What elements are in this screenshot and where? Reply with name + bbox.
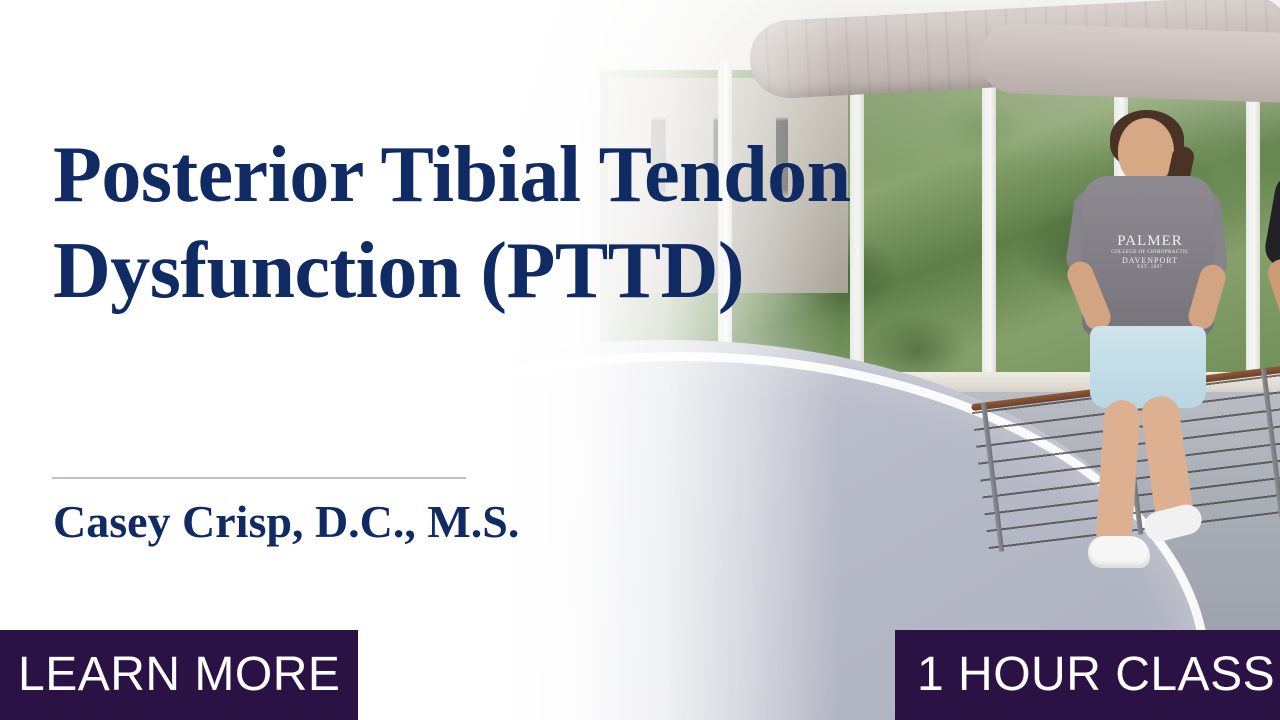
presenter-name: Casey Crisp, D.C., M.S. [53,494,519,550]
presentation-slide: PALMER COLLEGE OF CHIROPRACTIC DAVENPORT… [0,0,1280,720]
class-duration-label: 1 HOUR CLASS [917,651,1275,699]
title-divider [52,477,466,479]
background-photo: PALMER COLLEGE OF CHIROPRACTIC DAVENPORT… [420,0,1280,720]
leg-left [1095,399,1141,551]
shoe-right [1141,501,1205,544]
shirt-logo-line-4: EST. 1897 [1104,265,1196,270]
shirt-logo-line-2: COLLEGE OF CHIROPRACTIC [1104,250,1196,255]
shirt-logo-line-3: DAVENPORT [1104,257,1196,265]
hvac-duct-secondary [979,22,1280,103]
page-title: Posterior Tibial Tendon Dysfunction (PTT… [53,127,863,319]
shirt-logo-line-1: PALMER [1104,234,1196,250]
white-text-panel [0,0,440,720]
shirt-logo: PALMER COLLEGE OF CHIROPRACTIC DAVENPORT… [1104,234,1196,271]
head [1118,118,1174,184]
runner-female: PALMER COLLEGE OF CHIROPRACTIC DAVENPORT… [1070,118,1240,588]
class-duration-banner: 1 HOUR CLASS [895,630,1280,720]
shorts [1090,326,1206,408]
shoe-left [1088,536,1150,568]
learn-more-label: LEARN MORE [18,651,340,699]
learn-more-banner[interactable]: LEARN MORE [0,630,358,720]
